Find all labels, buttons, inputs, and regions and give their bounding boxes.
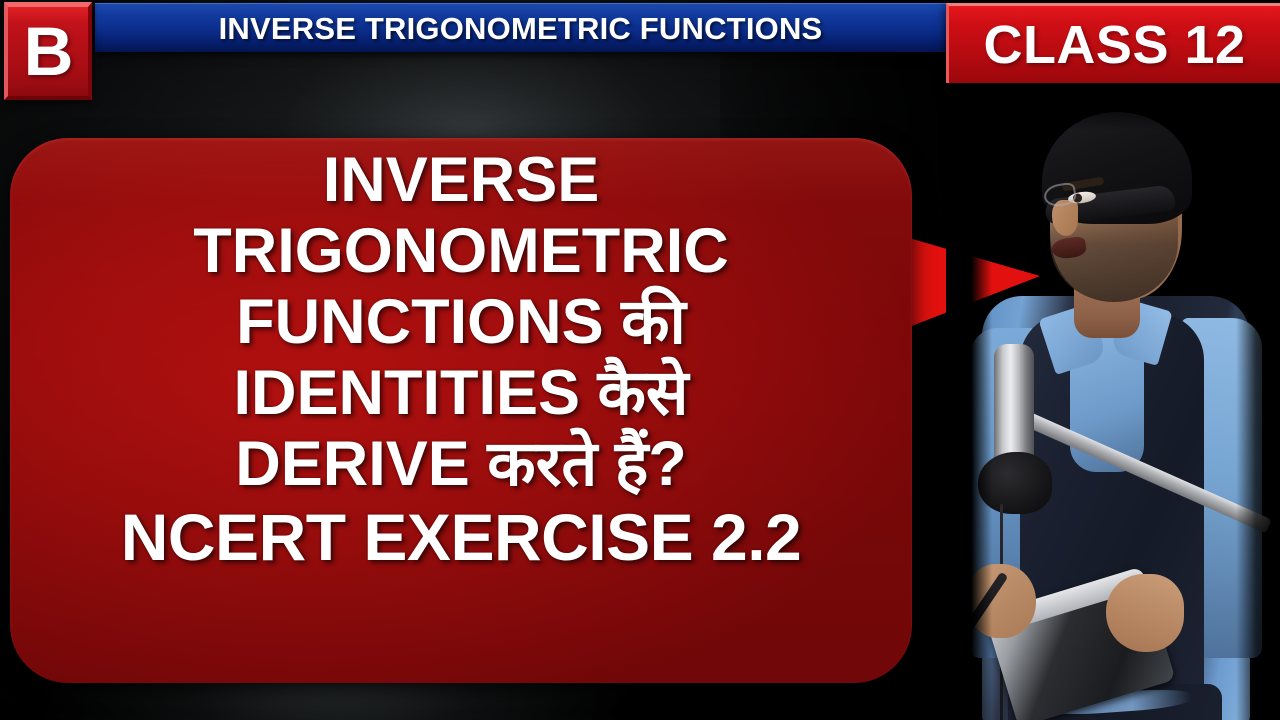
presenter-right-hand <box>1106 574 1184 652</box>
presenter-right-fade <box>1236 96 1280 720</box>
channel-logo: B <box>4 2 92 100</box>
microphone-icon <box>994 344 1034 466</box>
channel-logo-letter: B <box>24 17 73 86</box>
speech-bubble-text: INVERSE TRIGONOMETRIC FUNCTIONS की IDENT… <box>10 138 912 683</box>
bubble-line-2: TRIGONOMETRIC <box>193 217 728 288</box>
class-badge: CLASS 12 <box>946 3 1280 83</box>
presenter-top-fade <box>946 96 1280 130</box>
bubble-line-5: DERIVE करते हैं? <box>235 430 687 501</box>
bubble-line-4: IDENTITIES कैसे <box>233 359 688 430</box>
speech-bubble: INVERSE TRIGONOMETRIC FUNCTIONS की IDENT… <box>10 138 912 683</box>
presenter-figure <box>946 96 1280 720</box>
presenter-left-fade <box>946 96 992 720</box>
bubble-line-3: FUNCTIONS की <box>236 288 686 359</box>
video-thumbnail: INVERSE TRIGONOMETRIC FUNCTIONS की IDENT… <box>0 0 1280 720</box>
title-text: INVERSE TRIGONOMETRIC FUNCTIONS <box>219 13 823 44</box>
bubble-line-6: NCERT EXERCISE 2.2 <box>121 501 802 575</box>
class-badge-label: CLASS 12 <box>983 18 1245 72</box>
title-banner: INVERSE TRIGONOMETRIC FUNCTIONS <box>95 3 946 52</box>
bubble-line-1: INVERSE <box>323 146 600 217</box>
